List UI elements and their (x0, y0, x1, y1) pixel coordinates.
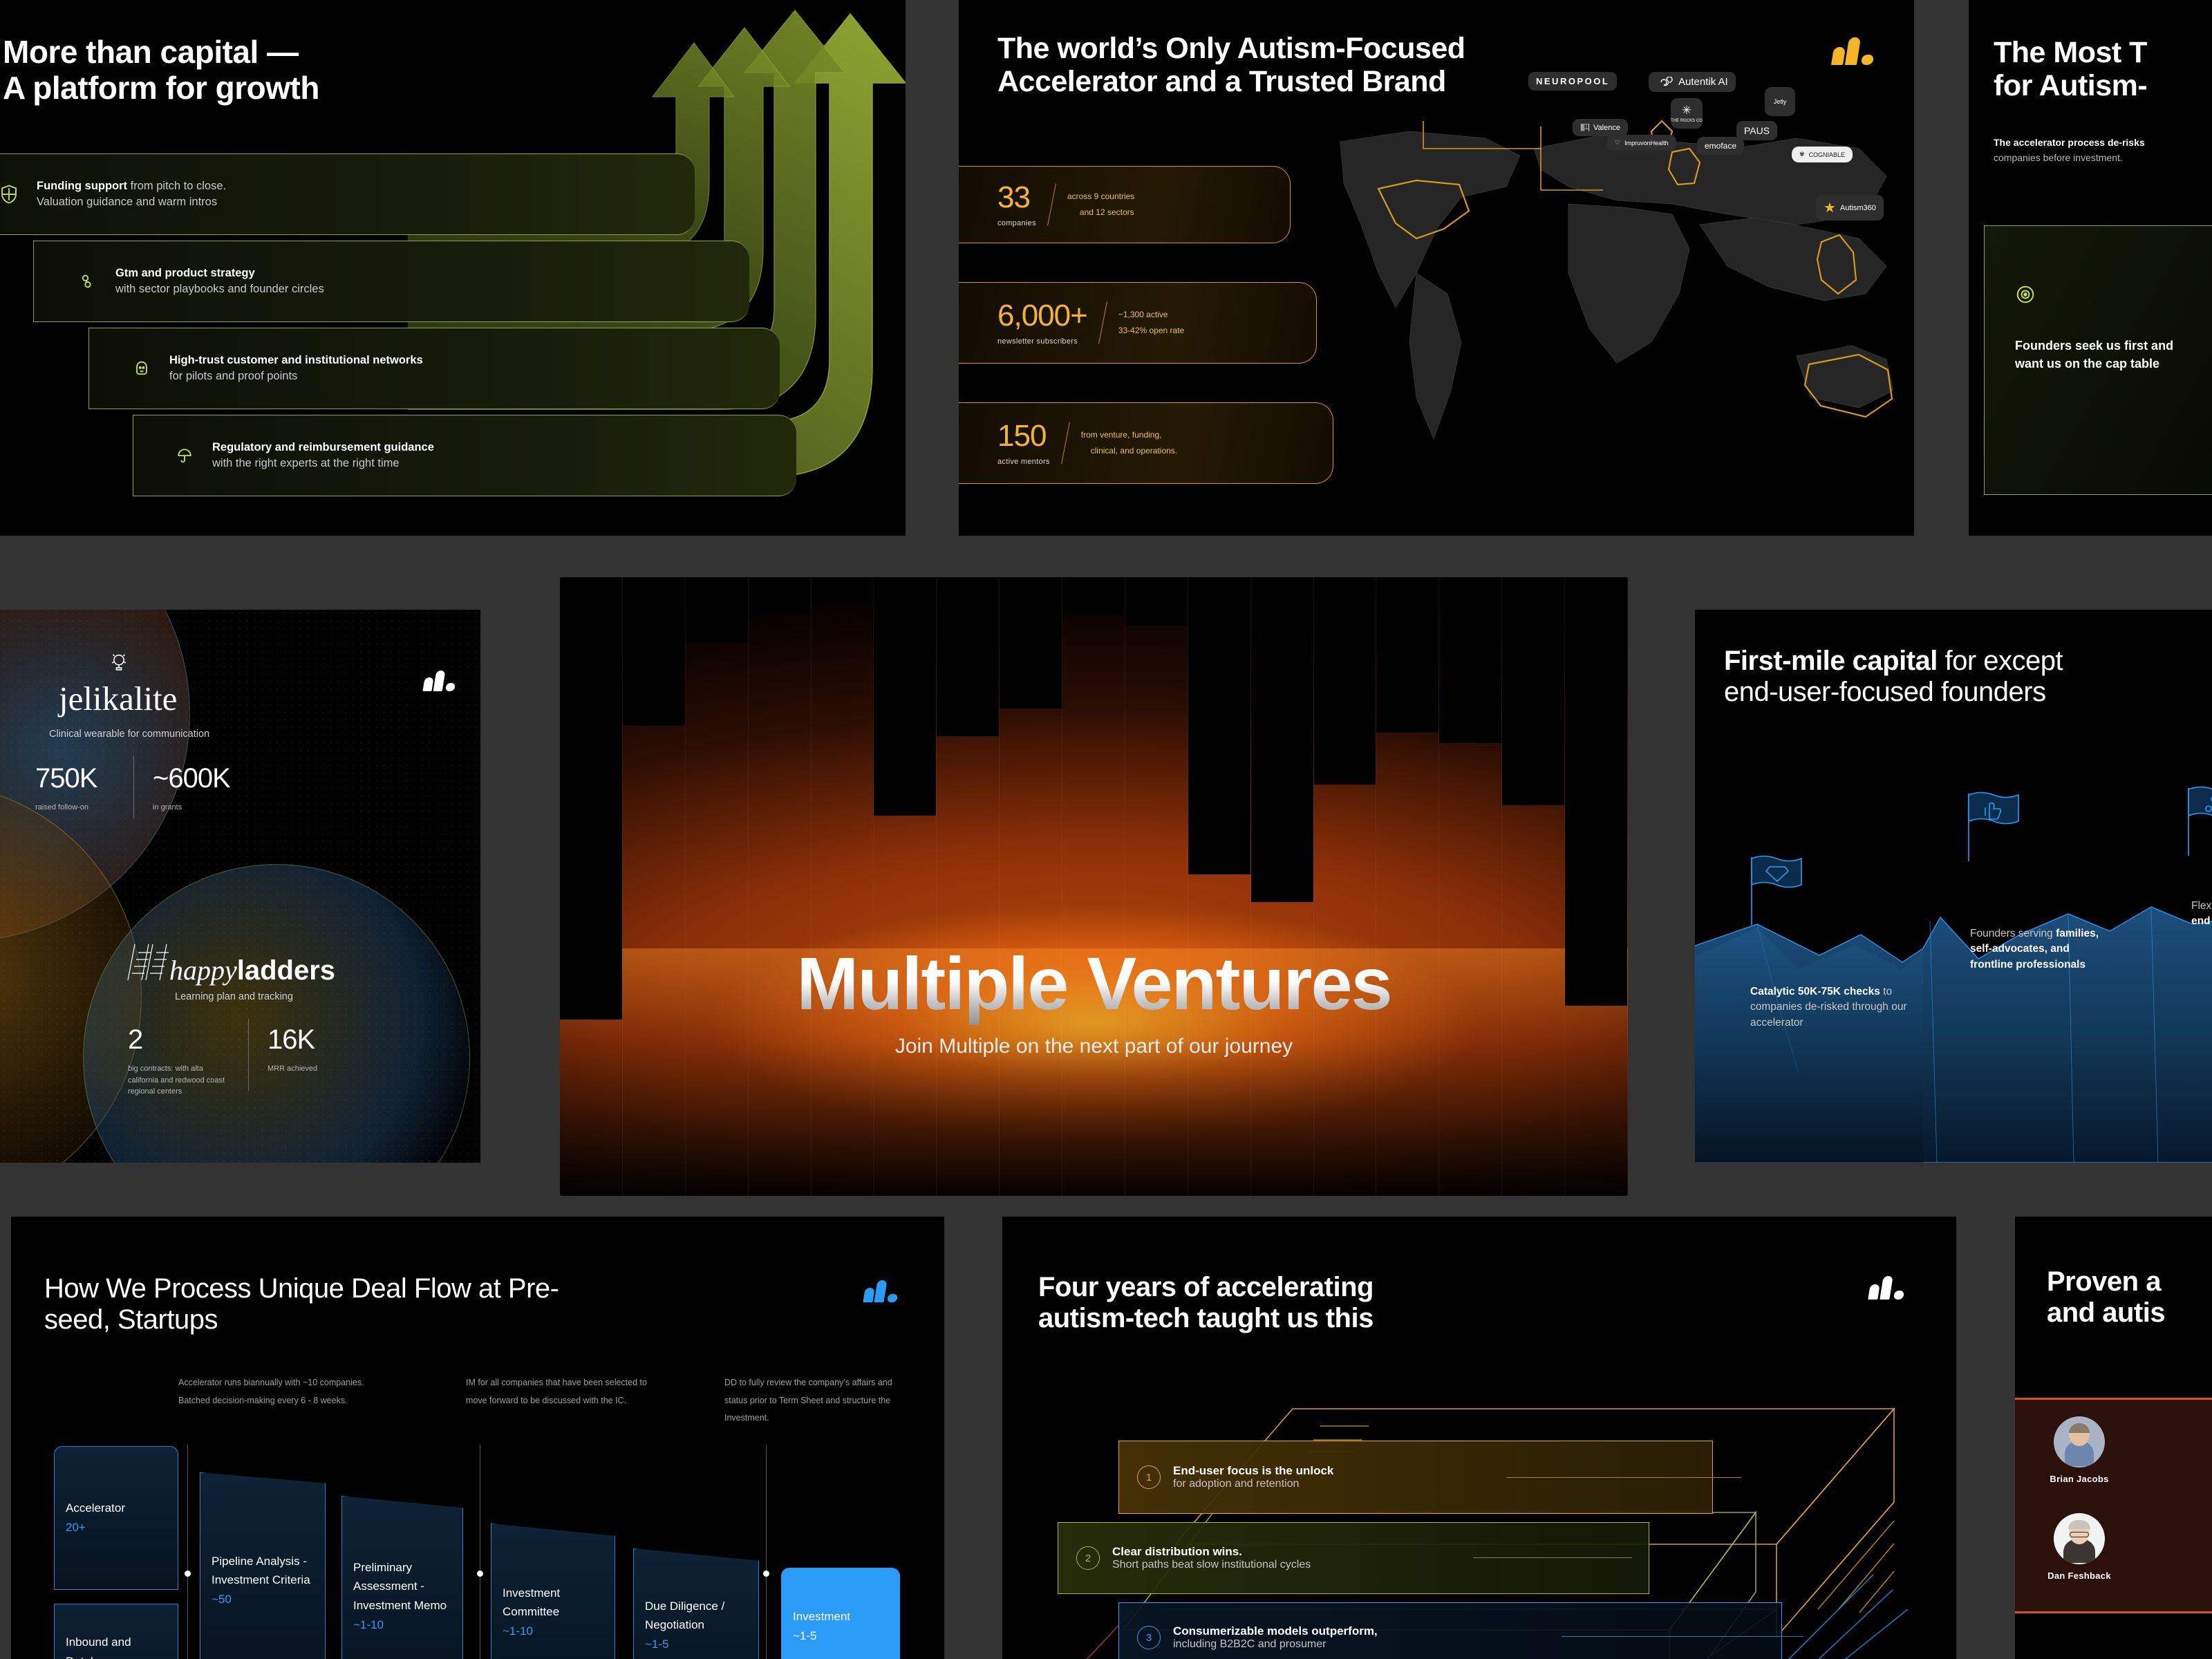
divider (1098, 301, 1107, 344)
funnel-step-inbound[interactable]: Inbound and Database (54, 1604, 178, 1659)
step-label: Preliminary Assessment - Investment Memo (353, 1558, 451, 1615)
portfolio-chip[interactable]: PAUS (1736, 121, 1777, 140)
portfolio-chip[interactable]: emoface (1697, 137, 1744, 155)
lesson-number: 3 (1137, 1626, 1161, 1649)
portfolio-chip[interactable]: Jetly (1765, 87, 1795, 116)
kpi-label: big contracts: with alta california and … (128, 1063, 232, 1098)
portfolio-chip[interactable]: ★ Autism360 (1816, 195, 1884, 221)
company-tagline: Learning plan and tracking (175, 991, 293, 1002)
avatar (2054, 1513, 2105, 1564)
target-icon (2015, 284, 2036, 308)
portfolio-chip[interactable]: NEUROPOOL (1528, 72, 1617, 91)
stat-value: 6,000+ (997, 301, 1087, 331)
trust-card[interactable]: Founders seek us first and want us on th… (1984, 225, 2212, 495)
stage-dot (763, 1571, 769, 1577)
stage-divider (480, 1445, 480, 1659)
avatar (2054, 1416, 2105, 1468)
kpi-value: 16K (268, 1024, 315, 1056)
lesson-rule (1506, 1477, 1741, 1478)
brain-icon: ✾ (1799, 151, 1805, 158)
stage-divider (187, 1445, 188, 1659)
trust-card-text: Founders seek us first and want us on th… (2015, 337, 2181, 373)
benefit-row-regulatory[interactable]: Regulatory and reimbursement guidance wi… (133, 415, 796, 496)
funnel-step-dd[interactable]: Due Diligence / Negotiation ~1-5 (633, 1548, 759, 1659)
stat-mentors[interactable]: 150 active mentors from venture, funding… (959, 402, 1333, 484)
briefcase-icon (863, 1647, 881, 1659)
page-title: How We Process Unique Deal Flow at Pre-s… (44, 1273, 611, 1335)
step-label: Inbound and Database (66, 1633, 167, 1659)
step-count: 20+ (66, 1518, 167, 1537)
step-count: ~1-5 (645, 1635, 747, 1654)
stat-detail: across 9 countries and 12 sectors (1067, 189, 1134, 221)
lesson-item-1[interactable]: 1 End-user focus is the unlock for adopt… (1118, 1441, 1713, 1514)
stat-caption: companies (997, 219, 1036, 227)
lesson-number: 1 (1137, 1465, 1161, 1489)
stat-caption: active mentors (997, 458, 1050, 466)
page-title: More than capital — A platform for growt… (3, 35, 319, 106)
benefit-row-networks[interactable]: High-trust customer and institutional ne… (88, 328, 780, 409)
slide-board: More than capital — A platform for growt… (0, 0, 2212, 1659)
member-name: Brian Jacobs (2027, 1474, 2131, 1484)
process-note: IM for all companies that have been sele… (466, 1374, 653, 1409)
flag-network (2186, 784, 2212, 859)
peak-text-catalytic: Catalytic 50K-75K checks to companies de… (1750, 984, 1944, 1031)
waveform-icon: |||⌶| (1580, 123, 1589, 132)
slide-hero-multiple-ventures[interactable]: Multiple Ventures Join Multiple on the n… (560, 577, 1628, 1196)
step-label: Due Diligence / Negotiation (645, 1597, 747, 1635)
kpi-label: MRR achieved (268, 1063, 317, 1075)
lesson-rule (1473, 1557, 1632, 1558)
kpi-label: in grants (153, 802, 182, 814)
portfolio-chip[interactable]: ♡ ImpruvonHealth (1607, 135, 1676, 151)
portfolio-chip[interactable]: |||⌶| Valence (1573, 119, 1628, 136)
slide-proven-team[interactable]: Proven a and autis Brian Jacobs Da (2015, 1217, 2212, 1659)
stat-value: 33 (997, 182, 1036, 213)
slide-platform-for-growth[interactable]: More than capital — A platform for growt… (0, 0, 906, 536)
funnel-step-preliminary[interactable]: Preliminary Assessment - Investment Memo… (341, 1496, 463, 1659)
stat-detail: from venture, funding, clinical, and ope… (1081, 427, 1177, 459)
paus-logo: PAUS (1744, 125, 1770, 136)
lesson-text: End-user focus is the unlock for adoptio… (1173, 1464, 1333, 1490)
face-icon (129, 356, 154, 381)
benefit-row-funding[interactable]: Funding support from pitch to close. Val… (0, 153, 695, 235)
lesson-number: 2 (1076, 1546, 1100, 1570)
stat-value: 150 (997, 421, 1050, 451)
slide-most-trusted[interactable]: The Most T for Autism- The accelerator p… (1969, 0, 2212, 536)
peak-text-founders: Founders serving families, self-advocate… (1970, 926, 2108, 973)
slat-overlay (560, 577, 1628, 1196)
stage-dot (185, 1571, 191, 1577)
stat-subscribers[interactable]: 6,000+ newsletter subscribers ~1,300 act… (959, 282, 1317, 364)
team-member[interactable]: Dan Feshback (2027, 1513, 2131, 1581)
lesson-text: Consumerizable models outperform, includ… (1173, 1624, 1378, 1651)
portfolio-chip[interactable]: ✳ THE ROCKS CO (1671, 98, 1703, 129)
lesson-text: Clear distribution wins. Short paths bea… (1112, 1545, 1311, 1571)
page-lede: The accelerator process de-risks compani… (1994, 135, 2212, 165)
stage-dot (477, 1571, 483, 1577)
step-count: ~1-5 (793, 1627, 888, 1646)
multiple-logo-icon (424, 671, 454, 691)
step-label: Pipeline Analysis - Investment Criteria (212, 1552, 314, 1590)
step-count: ~1-10 (353, 1615, 451, 1635)
flag-thumbs-up (1966, 789, 2023, 865)
multiple-logo-icon (1869, 1276, 1902, 1300)
divider (133, 756, 134, 818)
link-icon (75, 269, 100, 294)
shield-icon (0, 182, 21, 207)
page-title: Four years of accelerating autism-tech t… (1038, 1272, 1577, 1334)
umbrella-icon (172, 443, 197, 468)
asterisk-icon: ✳ (1682, 104, 1691, 118)
stat-caption: newsletter subscribers (997, 337, 1087, 346)
portfolio-chip[interactable]: ✾ COGNIABLE (1792, 147, 1853, 162)
kpi-value: ~600K (153, 763, 230, 794)
company-tagline: Clinical wearable for communication (49, 729, 209, 740)
benefit-text: Regulatory and reimbursement guidance wi… (212, 440, 434, 472)
benefit-row-gtm[interactable]: Gtm and product strategy with sector pla… (33, 241, 749, 322)
mountains-graphic (1695, 796, 2212, 1163)
company-name-happyladders: happyladders (169, 954, 335, 986)
slide-deal-flow[interactable]: How We Process Unique Deal Flow at Pre-s… (11, 1217, 944, 1659)
funnel-step-accelerator[interactable]: Accelerator 20+ (54, 1446, 178, 1590)
portfolio-chip[interactable]: Autentik AI (1649, 72, 1736, 92)
step-label: Investment Committee (503, 1584, 603, 1622)
star-icon: ★ (1824, 199, 1836, 216)
team-member[interactable]: Brian Jacobs (2027, 1416, 2131, 1484)
funnel-step-pipeline[interactable]: Pipeline Analysis - Investment Criteria … (200, 1472, 326, 1659)
benefit-text: Funding support from pitch to close. Val… (37, 178, 226, 211)
step-label: Investment (793, 1607, 888, 1627)
lesson-rule (1562, 1636, 1803, 1637)
ladder-icon (122, 943, 171, 985)
company-name-jelikalite: jelikalite (59, 679, 177, 718)
infinity-icon (1656, 77, 1674, 88)
team-panel: Brian Jacobs Dan Feshback INVESTING (2015, 1398, 2212, 1613)
page-title: First-mile capital for except end-user-f… (1724, 646, 2212, 708)
divider (1047, 183, 1056, 225)
stat-companies[interactable]: 33 companies across 9 countries and 12 s… (959, 166, 1291, 243)
hero-title: Multiple Ventures (560, 940, 1628, 1027)
stage-divider (766, 1445, 767, 1659)
heart-icon: ♡ (1615, 139, 1620, 147)
jetly-logo: Jetly (1774, 98, 1787, 105)
divider (1061, 422, 1070, 464)
page-title: Proven a and autis (2047, 1266, 2212, 1329)
multiple-logo-icon (1833, 37, 1871, 65)
neuropool-logo: NEUROPOOL (1536, 76, 1609, 86)
emoface-logo: emoface (1705, 141, 1736, 151)
slide-first-mile-capital[interactable]: First-mile capital for except end-user-f… (1695, 610, 2212, 1163)
step-count: ~50 (212, 1590, 314, 1609)
flag-diamond (1749, 853, 1806, 928)
benefit-text: Gtm and product strategy with sector pla… (115, 265, 324, 298)
process-note: Accelerator runs biannually with ~10 com… (178, 1374, 365, 1409)
kpi-value: 750K (35, 763, 97, 794)
slide-portfolio-companies[interactable]: jelikalite Clinical wearable for communi… (0, 610, 480, 1163)
lesson-item-2[interactable]: 2 Clear distribution wins. Short paths b… (1058, 1522, 1649, 1594)
jelikalite-logo-icon (107, 651, 131, 678)
hero-subtitle: Join Multiple on the next part of our jo… (560, 1035, 1628, 1058)
kpi-label: raised follow-on (35, 802, 88, 814)
process-note: DD to fully review the company’s affairs… (724, 1374, 911, 1427)
peak-text-flexible: Flexible if distrib to end u is credib (2191, 899, 2212, 930)
benefit-text: High-trust customer and institutional ne… (169, 353, 423, 385)
kpi-value: 2 (128, 1024, 142, 1056)
page-title: The Most T for Autism- (1994, 36, 2212, 102)
member-name: Dan Feshback (2027, 1571, 2131, 1581)
step-label: Accelerator (66, 1499, 167, 1518)
divider (248, 1019, 249, 1091)
stat-detail: ~1,300 active 33-42% open rate (1118, 307, 1184, 339)
lesson-item-3[interactable]: 3 Consumerizable models outperform, incl… (1118, 1602, 1782, 1659)
funnel-step-ic[interactable]: Investment Committee ~1-10 (491, 1524, 615, 1659)
slide-autism-accelerator[interactable]: The world’s Only Autism-Focused Accelera… (959, 0, 1914, 536)
funnel-step-investment[interactable]: Investment ~1-5 (781, 1568, 900, 1659)
step-count: ~1-10 (503, 1622, 603, 1641)
slide-four-years-lessons[interactable]: Four years of accelerating autism-tech t… (1002, 1217, 1956, 1659)
multiple-logo-icon (864, 1280, 896, 1302)
